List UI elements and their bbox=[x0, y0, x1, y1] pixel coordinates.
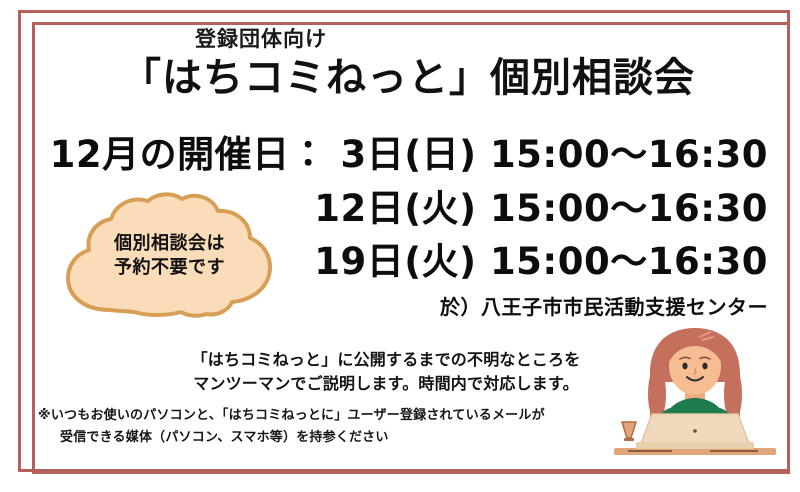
laptop-logo-icon bbox=[693, 429, 697, 433]
callout-text: 個別相談会は 予約不要です bbox=[62, 232, 277, 281]
page-title: 「はちコミねっと」個別相談会 bbox=[16, 53, 800, 103]
note-block: ※いつもお使いのパソコンと、「はちコミねっとに」ユーザー登録されているメールが … bbox=[38, 405, 618, 449]
desk-object-base bbox=[624, 438, 634, 441]
woman-at-laptop-illustration bbox=[600, 322, 790, 467]
description-line-2: マンツーマンでご説明します。時間内で対応します。 bbox=[126, 372, 646, 396]
callout-line-2: 予約不要です bbox=[62, 256, 277, 280]
description-line-1: 「はちコミねっと」に公開するまでの不明なところを bbox=[126, 348, 646, 372]
desk-object-icon bbox=[622, 422, 636, 438]
callout-line-1: 個別相談会は bbox=[62, 232, 277, 256]
desk-detail-right bbox=[710, 450, 758, 452]
kicker-text: 登録団体向け bbox=[0, 28, 800, 51]
schedule-line-1: 12月の開催日： 3日(日) 15:00〜16:30 bbox=[40, 128, 768, 182]
description-block: 「はちコミねっと」に公開するまでの不明なところを マンツーマンでご説明します。時… bbox=[126, 348, 646, 396]
left-eye-icon bbox=[682, 363, 687, 370]
desk-detail-left bbox=[628, 450, 672, 452]
note-line-2: 受信できる媒体（パソコン、スマホ等）を持参ください bbox=[38, 427, 618, 449]
no-reservation-callout: 個別相談会は 予約不要です bbox=[62, 192, 277, 318]
right-eye-icon bbox=[702, 363, 707, 370]
note-line-1: ※いつもお使いのパソコンと、「はちコミねっとに」ユーザー登録されているメールが bbox=[38, 405, 618, 427]
headline-block: 登録団体向け 「はちコミねっと」個別相談会 bbox=[0, 28, 800, 103]
poster-canvas: 登録団体向け 「はちコミねっと」個別相談会 12月の開催日： 3日(日) 15:… bbox=[0, 0, 800, 492]
laptop-base-shape bbox=[636, 442, 754, 449]
